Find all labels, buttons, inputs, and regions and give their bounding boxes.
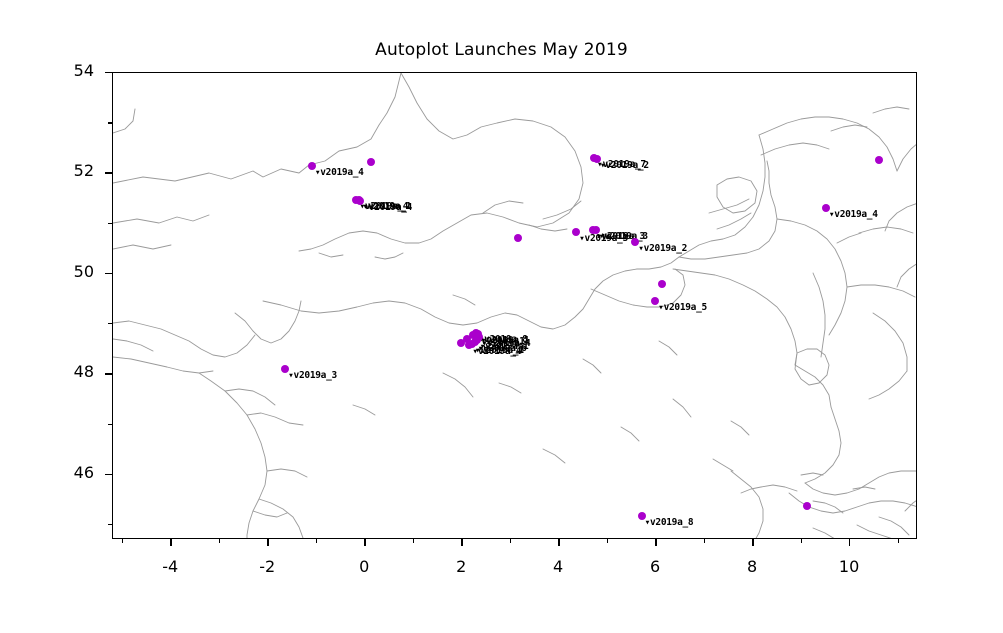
y-tick-minor: [108, 424, 112, 425]
data-point-label: ▾v2019a_4: [363, 202, 412, 213]
x-tick-label: -4: [140, 557, 200, 576]
x-tick-major: [752, 539, 753, 546]
y-tick-label: 46: [34, 463, 94, 482]
x-tick-label: 4: [528, 557, 588, 576]
y-tick-major: [105, 172, 112, 173]
x-tick-label: 6: [625, 557, 685, 576]
x-tick-major: [170, 539, 171, 546]
x-tick-label: 8: [722, 557, 782, 576]
y-tick-minor: [108, 524, 112, 525]
x-tick-label: 0: [334, 557, 394, 576]
y-tick-major: [105, 373, 112, 374]
x-tick-label: 10: [819, 557, 879, 576]
x-tick-label: -2: [237, 557, 297, 576]
basemap-coastlines: [113, 73, 917, 539]
x-tick-minor: [219, 539, 220, 543]
y-tick-label: 54: [34, 61, 94, 80]
y-tick-major: [105, 474, 112, 475]
x-tick-minor: [510, 539, 511, 543]
data-point-label: ▾v2019a_3: [599, 231, 648, 242]
data-point-label: ▾v2019a_5: [658, 302, 707, 313]
y-tick-major: [105, 273, 112, 274]
data-point-label: ▾v2019a_2: [638, 243, 687, 254]
x-tick-major: [849, 539, 850, 546]
x-tick-minor: [898, 539, 899, 543]
x-tick-major: [655, 539, 656, 546]
data-point-label: ▾v2019a_4: [829, 209, 878, 220]
x-tick-minor: [122, 539, 123, 543]
y-tick-minor: [108, 223, 112, 224]
x-tick-minor: [316, 539, 317, 543]
x-tick-minor: [704, 539, 705, 543]
y-tick-label: 50: [34, 262, 94, 281]
data-point-label: ▾v2019a_3: [288, 370, 337, 381]
y-tick-label: 48: [34, 362, 94, 381]
y-tick-major: [105, 72, 112, 73]
x-tick-major: [364, 539, 365, 546]
x-tick-minor: [413, 539, 414, 543]
chart-title: Autoplot Launches May 2019: [0, 40, 1003, 60]
x-tick-major: [461, 539, 462, 546]
data-point-label: ▾v2019a_2: [600, 160, 649, 171]
data-point-label: ▾v2019a_8: [645, 517, 694, 528]
y-tick-minor: [108, 122, 112, 123]
plot-axes-area: ▾v2019a_4▾v2019a_4▾v2019a_1▾v2019a_4▾v20…: [112, 72, 917, 539]
figure-canvas: Autoplot Launches May 2019: [0, 0, 1003, 633]
x-tick-minor: [607, 539, 608, 543]
y-tick-minor: [108, 323, 112, 324]
x-tick-major: [267, 539, 268, 546]
y-tick-label: 52: [34, 161, 94, 180]
x-tick-label: 2: [431, 557, 491, 576]
x-tick-minor: [801, 539, 802, 543]
data-point-label: ▾v2019a_4: [472, 346, 521, 357]
data-point-label: ▾v2019a_4: [315, 167, 364, 178]
x-tick-major: [558, 539, 559, 546]
